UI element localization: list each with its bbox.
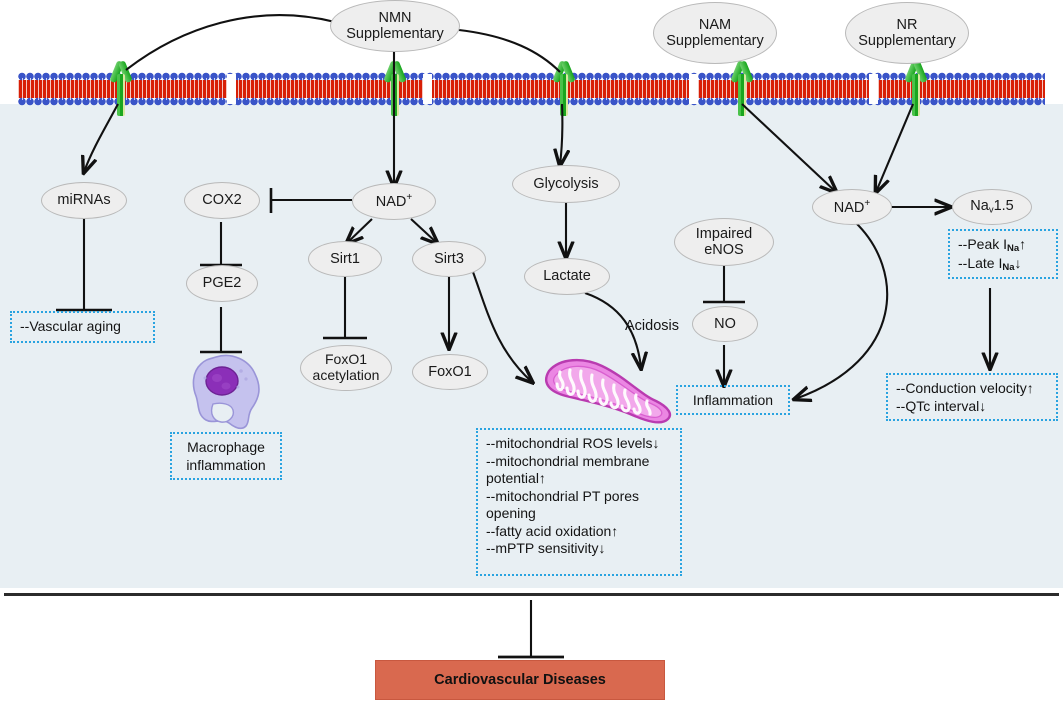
vascular-aging-line: --Vascular aging xyxy=(20,318,145,336)
nmn-line1: NMN xyxy=(378,10,411,26)
pathway-diagram-canvas: NMN Supplementary NAM Supplementary NR S… xyxy=(0,0,1063,711)
node-sirt3[interactable]: Sirt3 xyxy=(412,241,486,277)
qtc-interval-line: --QTc interval↓ xyxy=(896,398,1048,416)
edge-label-acidosis: Acidosis xyxy=(625,318,679,334)
no-label: NO xyxy=(714,316,736,332)
nam-line1: NAM xyxy=(699,17,731,33)
outcome-cardiovascular-diseases: Cardiovascular Diseases xyxy=(375,660,665,700)
sirt3-label: Sirt3 xyxy=(434,251,464,267)
result-box-conduction: --Conduction velocity↑ --QTc interval↓ xyxy=(886,373,1058,421)
result-box-macrophage-inflammation: Macrophage inflammation xyxy=(170,432,282,480)
macrophage-line2: inflammation xyxy=(180,457,272,475)
result-box-inflammation: Inflammation xyxy=(676,385,790,415)
node-foxo1[interactable]: FoxO1 xyxy=(412,354,488,390)
node-lactate[interactable]: Lactate xyxy=(524,258,610,295)
membrane-gap xyxy=(227,74,236,104)
mito-effect-line: opening xyxy=(486,505,672,523)
membrane-transporter-icon xyxy=(382,60,408,116)
result-box-vascular-aging: --Vascular aging xyxy=(10,311,155,343)
node-cox2[interactable]: COX2 xyxy=(184,182,260,219)
lactate-label: Lactate xyxy=(543,268,591,284)
conduction-velocity-line: --Conduction velocity↑ xyxy=(896,380,1048,398)
nav15-tail: 1.5 xyxy=(994,198,1014,214)
mito-effect-line: --fatty acid oxidation↑ xyxy=(486,523,672,541)
node-mirnas[interactable]: miRNAs xyxy=(41,182,127,219)
node-sirt1[interactable]: Sirt1 xyxy=(308,241,382,277)
membrane-transporter-icon xyxy=(551,60,577,116)
plasma-membrane xyxy=(18,72,1045,106)
nr-line1: NR xyxy=(897,17,918,33)
inflammation-line: Inflammation xyxy=(686,392,780,410)
node-pge2[interactable]: PGE2 xyxy=(186,265,258,302)
nam-line2: Supplementary xyxy=(666,33,764,49)
macrophage-line1: Macrophage xyxy=(180,439,272,457)
nad-right-label: NAD xyxy=(834,200,865,216)
foxo1-acetylation-line1: FoxO1 xyxy=(325,351,367,367)
nr-line2: Supplementary xyxy=(858,33,956,49)
node-no[interactable]: NO xyxy=(692,306,758,342)
membrane-gap xyxy=(869,74,878,104)
mito-effect-line: --mPTP sensitivity↓ xyxy=(486,540,672,558)
cox2-label: COX2 xyxy=(202,192,242,208)
node-nam-supplementary[interactable]: NAM Supplementary xyxy=(653,2,777,64)
foxo1-label: FoxO1 xyxy=(428,364,472,380)
node-nad-left[interactable]: NAD+ xyxy=(352,183,436,220)
result-box-sodium-current: --Peak INa↑ --Late INa↓ xyxy=(948,229,1058,279)
late-ina-line: --Late INa↓ xyxy=(958,255,1048,274)
pge2-label: PGE2 xyxy=(203,275,242,291)
outcome-label: Cardiovascular Diseases xyxy=(434,672,606,688)
mito-effect-line: --mitochondrial ROS levels↓ xyxy=(486,435,672,453)
node-nr-supplementary[interactable]: NR Supplementary xyxy=(845,2,969,64)
result-box-mitochondria-effects: --mitochondrial ROS levels↓ --mitochondr… xyxy=(476,428,682,576)
nad-left-label: NAD xyxy=(376,194,407,210)
node-glycolysis[interactable]: Glycolysis xyxy=(512,165,620,203)
membrane-gap xyxy=(689,74,698,104)
mito-effect-line: --mitochondrial membrane xyxy=(486,453,672,471)
mito-effect-line: --mitochondrial PT pores xyxy=(486,488,672,506)
node-foxo1-acetylation[interactable]: FoxO1 acetylation xyxy=(300,345,392,391)
mito-effect-line: potential↑ xyxy=(486,470,672,488)
membrane-tail-hatching xyxy=(18,78,1045,100)
impaired-enos-line2: eNOS xyxy=(704,242,744,258)
node-nad-right[interactable]: NAD+ xyxy=(812,189,892,225)
nmn-line2: Supplementary xyxy=(346,26,444,42)
foxo1-acetylation-line2: acetylation xyxy=(313,367,380,383)
nav15-label: Na xyxy=(970,198,989,214)
glycolysis-label: Glycolysis xyxy=(533,176,598,192)
peak-ina-line: --Peak INa↑ xyxy=(958,236,1048,255)
membrane-gap xyxy=(423,74,432,104)
mirnas-label: miRNAs xyxy=(57,192,110,208)
node-nav15[interactable]: Nav1.5 xyxy=(952,189,1032,225)
nad-right-charge: + xyxy=(864,198,870,209)
membrane-transporter-icon xyxy=(108,60,134,116)
sirt1-label: Sirt1 xyxy=(330,251,360,267)
nad-left-charge: + xyxy=(406,192,412,203)
membrane-transporter-icon xyxy=(903,60,929,116)
impaired-enos-line1: Impaired xyxy=(696,226,752,242)
section-divider xyxy=(4,593,1059,596)
node-impaired-enos[interactable]: Impaired eNOS xyxy=(674,218,774,266)
membrane-transporter-icon xyxy=(729,60,755,116)
node-nmn-supplementary[interactable]: NMN Supplementary xyxy=(330,0,460,52)
